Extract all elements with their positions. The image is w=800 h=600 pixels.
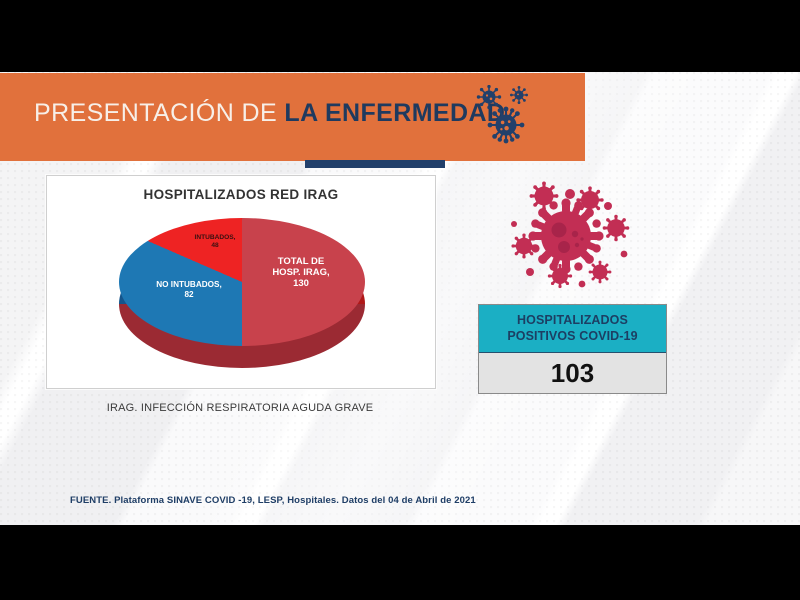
- page-title-bold: LA ENFERMEDAD: [284, 99, 505, 127]
- screenshot-canvas: PRESENTACIÓN DE LA ENFERMEDAD: [0, 0, 800, 600]
- chart-panel: HOSPITALIZADOS RED IRAG TOTAL DE HOSP. I…: [46, 175, 436, 389]
- stat-box-value: 103: [479, 353, 666, 393]
- source-note: FUENTE. Plataforma SINAVE COVID -19, LES…: [70, 495, 476, 506]
- stat-box-hospitalizados-positivos: HOSPITALIZADOS POSITIVOS COVID-19 103: [478, 304, 667, 394]
- page-title-light: PRESENTACIÓN DE: [34, 99, 284, 127]
- slide-content-area: PRESENTACIÓN DE LA ENFERMEDAD: [0, 72, 800, 525]
- pie-chart-top-face: [119, 218, 365, 346]
- coronavirus-particle-cluster: [500, 180, 640, 290]
- chart-caption: IRAG. INFECCIÓN RESPIRATORIA AGUDA GRAVE: [46, 402, 434, 414]
- slide-header-band: PRESENTACIÓN DE LA ENFERMEDAD: [0, 73, 585, 161]
- pie-chart: TOTAL DE HOSP. IRAG, 130 NO INTUBADOS, 8…: [119, 218, 365, 368]
- stat-box-header-line1: HOSPITALIZADOS: [517, 313, 628, 329]
- header-accent-bar: [305, 160, 445, 168]
- stat-box-header: HOSPITALIZADOS POSITIVOS COVID-19: [479, 305, 666, 353]
- stat-box-header-line2: POSITIVOS COVID-19: [507, 329, 637, 345]
- chart-title: HOSPITALIZADOS RED IRAG: [47, 187, 435, 202]
- page-title: PRESENTACIÓN DE LA ENFERMEDAD: [34, 99, 505, 128]
- coronavirus-icon-cluster: [475, 85, 547, 147]
